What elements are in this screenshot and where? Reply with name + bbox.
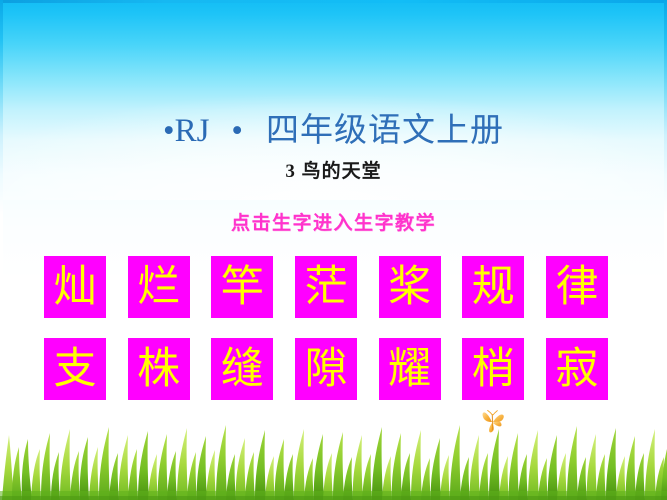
- title-bullet: •: [231, 113, 244, 149]
- instruction-text: 点击生字进入生字教学: [0, 212, 667, 236]
- character-tile[interactable]: 支: [44, 338, 106, 400]
- title-publisher-code: •RJ: [163, 113, 209, 149]
- character-tile[interactable]: 规: [462, 256, 524, 318]
- slide-top-border: [0, 0, 667, 3]
- character-tile[interactable]: 缝: [211, 338, 273, 400]
- character-tile[interactable]: 株: [128, 338, 190, 400]
- character-tile[interactable]: 梢: [462, 338, 524, 400]
- character-tile[interactable]: 隙: [295, 338, 357, 400]
- character-tile[interactable]: 竿: [211, 256, 273, 318]
- character-tile[interactable]: 寂: [546, 338, 608, 400]
- character-tile-grid: 灿 烂 竿 茫 桨 规 律 支 株 缝 隙 耀 梢 寂: [44, 256, 608, 400]
- lesson-title: 3 鸟的天堂: [0, 160, 667, 184]
- character-tile[interactable]: 桨: [379, 256, 441, 318]
- character-row-1: 灿 烂 竿 茫 桨 规 律: [44, 256, 608, 318]
- presentation-slide: •RJ•四年级语文上册 3 鸟的天堂 点击生字进入生字教学 灿 烂 竿 茫 桨 …: [0, 0, 667, 500]
- grass-decoration: [0, 405, 667, 500]
- page-title: •RJ•四年级语文上册: [0, 112, 667, 150]
- character-tile[interactable]: 灿: [44, 256, 106, 318]
- character-tile[interactable]: 烂: [128, 256, 190, 318]
- character-row-2: 支 株 缝 隙 耀 梢 寂: [44, 338, 608, 400]
- title-subject: 四年级语文上册: [266, 113, 504, 149]
- character-tile[interactable]: 耀: [379, 338, 441, 400]
- character-tile[interactable]: 律: [546, 256, 608, 318]
- character-tile[interactable]: 茫: [295, 256, 357, 318]
